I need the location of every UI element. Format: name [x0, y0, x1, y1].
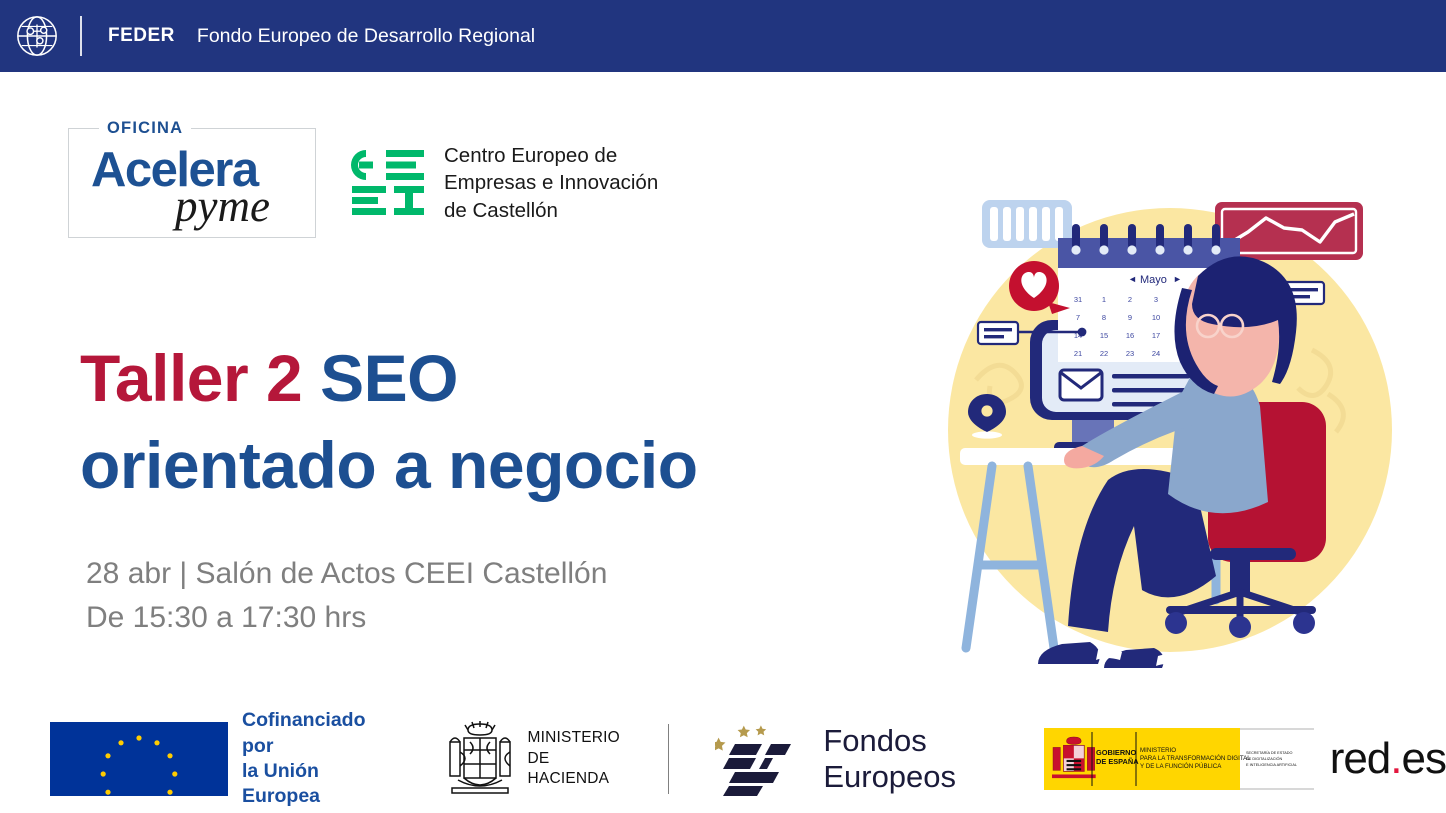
- svg-text:23: 23: [1126, 349, 1134, 358]
- hacienda-line-1: MINISTERIO: [528, 728, 620, 748]
- headline-line-1: Taller 2 SEO: [80, 335, 698, 422]
- fondos-europeos-label: Fondos Europeos: [823, 723, 961, 795]
- svg-text:7: 7: [1076, 313, 1080, 322]
- ceei-line-1: Centro Europeo de: [444, 142, 658, 169]
- footer-logos: Cofinanciado por la Unión Europea MINIS: [0, 705, 1446, 813]
- ministerio-line-1: MINISTERIO: [1140, 747, 1176, 754]
- woman-at-desk-illustration: ◄ Mayo ► 3112 3456 789 101112 141516 171…: [930, 180, 1420, 680]
- svg-text:16: 16: [1126, 331, 1134, 340]
- svg-text:21: 21: [1074, 349, 1082, 358]
- footer-divider: [668, 724, 669, 794]
- headline-seo: SEO: [320, 341, 458, 415]
- redes-text-after: es: [1402, 734, 1446, 783]
- logo-row: OFICINA Acelera pyme Centro Europeo de E…: [68, 128, 658, 238]
- gobierno-line-2: DE ESPAÑA: [1096, 757, 1139, 766]
- ceei-logo-icon: [350, 148, 428, 218]
- headline-line-2: orientado a negocio: [80, 422, 698, 509]
- ministerio-line-2: PARA LA TRANSFORMACIÓN DIGITAL: [1140, 755, 1251, 762]
- secretaria-line-1: SECRETARÍA DE ESTADO: [1246, 751, 1293, 755]
- gobierno-espana-logo: GOBIERNO DE ESPAÑA MINISTERIO PARA LA TR…: [1044, 728, 1446, 790]
- fondos-europeos-logo: Fondos Europeos: [715, 722, 961, 796]
- gobierno-line-1: GOBIERNO: [1096, 748, 1136, 757]
- eu-funding-logo: Cofinanciado por la Unión Europea: [50, 708, 366, 809]
- eu-caption-line-2: la Unión Europea: [242, 759, 366, 810]
- event-details: 28 abr | Salón de Actos CEEI Castellón D…: [86, 552, 607, 639]
- svg-text:17: 17: [1152, 331, 1160, 340]
- svg-text:10: 10: [1152, 313, 1160, 322]
- secretaria-line-3: E INTELIGENCIA ARTIFICIAL: [1246, 763, 1297, 767]
- svg-text:22: 22: [1100, 349, 1108, 358]
- banner-divider: [80, 16, 82, 56]
- hacienda-caption: MINISTERIO DE HACIENDA: [528, 728, 620, 789]
- globe-network-icon: [14, 13, 60, 59]
- ceei-line-3: de Castellón: [444, 197, 658, 224]
- page-title: Taller 2 SEO orientado a negocio: [80, 335, 698, 509]
- event-date-place: 28 abr | Salón de Actos CEEI Castellón: [86, 552, 607, 596]
- feder-banner: FEDER Fondo Europeo de Desarrollo Region…: [0, 0, 1446, 72]
- svg-text:2: 2: [1128, 295, 1132, 304]
- svg-text:8: 8: [1102, 313, 1106, 322]
- ministerio-line-3: Y DE LA FUNCIÓN PÚBLICA: [1140, 763, 1222, 770]
- pyme-word: pyme: [175, 184, 270, 229]
- feder-abbreviation: FEDER: [108, 25, 175, 47]
- fondos-europeos-icon: [715, 722, 807, 796]
- headline-taller: Taller 2: [80, 341, 302, 415]
- oficina-label: OFICINA: [99, 119, 191, 138]
- ceei-line-2: Empresas e Innovación: [444, 169, 658, 196]
- acelera-pyme-logo: OFICINA Acelera pyme: [68, 128, 316, 238]
- ministerio-hacienda-logo: MINISTERIO DE HACIENDA: [444, 718, 620, 800]
- eu-flag-icon: [50, 722, 228, 796]
- event-time: De 15:30 a 17:30 hrs: [86, 596, 607, 640]
- redes-logo: red.es: [1330, 737, 1446, 781]
- calendar-month-label: Mayo: [1140, 274, 1167, 286]
- svg-text:1: 1: [1102, 295, 1106, 304]
- calendar-next-arrow[interactable]: ►: [1173, 274, 1182, 284]
- svg-text:24: 24: [1152, 349, 1160, 358]
- eu-caption-line-1: Cofinanciado por: [242, 708, 366, 759]
- gobierno-block: GOBIERNO DE ESPAÑA MINISTERIO PARA LA TR…: [1044, 728, 1314, 790]
- secretaria-line-2: DE DIGITALIZACIÓN: [1246, 756, 1282, 761]
- svg-text:15: 15: [1100, 331, 1108, 340]
- feder-full-name: Fondo Europeo de Desarrollo Regional: [197, 25, 535, 48]
- redes-dot: .: [1390, 734, 1401, 783]
- svg-text:3: 3: [1154, 295, 1158, 304]
- redes-text-before: red: [1330, 734, 1391, 783]
- eu-caption: Cofinanciado por la Unión Europea: [242, 708, 366, 809]
- ceei-description: Centro Europeo de Empresas e Innovación …: [444, 142, 658, 223]
- svg-text:31: 31: [1074, 295, 1082, 304]
- spain-coat-of-arms-icon: [444, 718, 516, 800]
- svg-text:9: 9: [1128, 313, 1132, 322]
- calendar-prev-arrow[interactable]: ◄: [1128, 274, 1137, 284]
- hacienda-line-2: DE HACIENDA: [528, 749, 620, 790]
